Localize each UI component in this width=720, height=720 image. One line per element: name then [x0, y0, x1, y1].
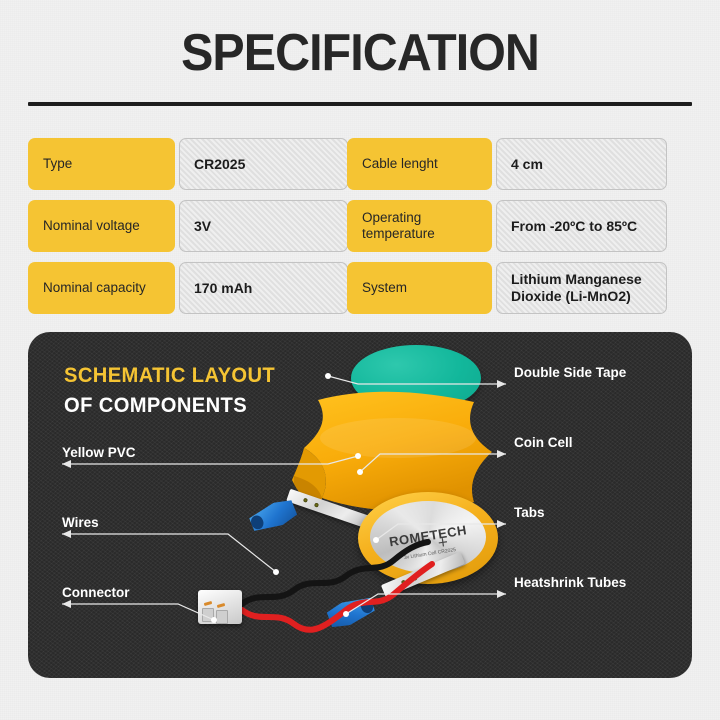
spec-value: 170 mAh — [179, 262, 348, 314]
spec-value: 3V — [179, 200, 348, 252]
callout-connector: Connector — [62, 585, 130, 600]
spec-value: 4 cm — [496, 138, 667, 190]
spec-key: Operating temperature — [347, 200, 492, 252]
schematic-panel: SCHEMATIC LAYOUT OF COMPONENTS — [28, 332, 692, 678]
callout-double-side-tape: Double Side Tape — [514, 365, 626, 380]
spec-value: From -20ºC to 85ºC — [496, 200, 667, 252]
spec-key: Nominal capacity — [28, 262, 175, 314]
callout-heatshrink-tubes: Heatshrink Tubes — [514, 575, 626, 590]
spec-row: Nominal voltage 3V — [28, 200, 348, 252]
spec-key: Type — [28, 138, 175, 190]
spec-row: Cable lenght 4 cm — [347, 138, 667, 190]
spec-key: Nominal voltage — [28, 200, 175, 252]
spec-row: System Lithium Manganese Dioxide (Li-MnO… — [347, 262, 667, 314]
callout-tabs: Tabs — [514, 505, 545, 520]
callout-lines — [28, 332, 692, 678]
spec-value: CR2025 — [179, 138, 348, 190]
spec-value: Lithium Manganese Dioxide (Li-MnO2) — [496, 262, 667, 314]
spec-key: Cable lenght — [347, 138, 492, 190]
spec-column-right: Cable lenght 4 cm Operating temperature … — [347, 138, 667, 324]
callout-yellow-pvc: Yellow PVC — [62, 445, 136, 460]
header-divider — [28, 102, 692, 106]
spec-row: Operating temperature From -20ºC to 85ºC — [347, 200, 667, 252]
callout-coin-cell: Coin Cell — [514, 435, 573, 450]
page-title: SPECIFICATION — [25, 24, 695, 82]
spec-key: System — [347, 262, 492, 314]
page-root: SPECIFICATION Type CR2025 Nominal voltag… — [0, 0, 720, 720]
callout-wires: Wires — [62, 515, 99, 530]
spec-column-left: Type CR2025 Nominal voltage 3V Nominal c… — [28, 138, 348, 324]
spec-row: Type CR2025 — [28, 138, 348, 190]
spec-row: Nominal capacity 170 mAh — [28, 262, 348, 314]
